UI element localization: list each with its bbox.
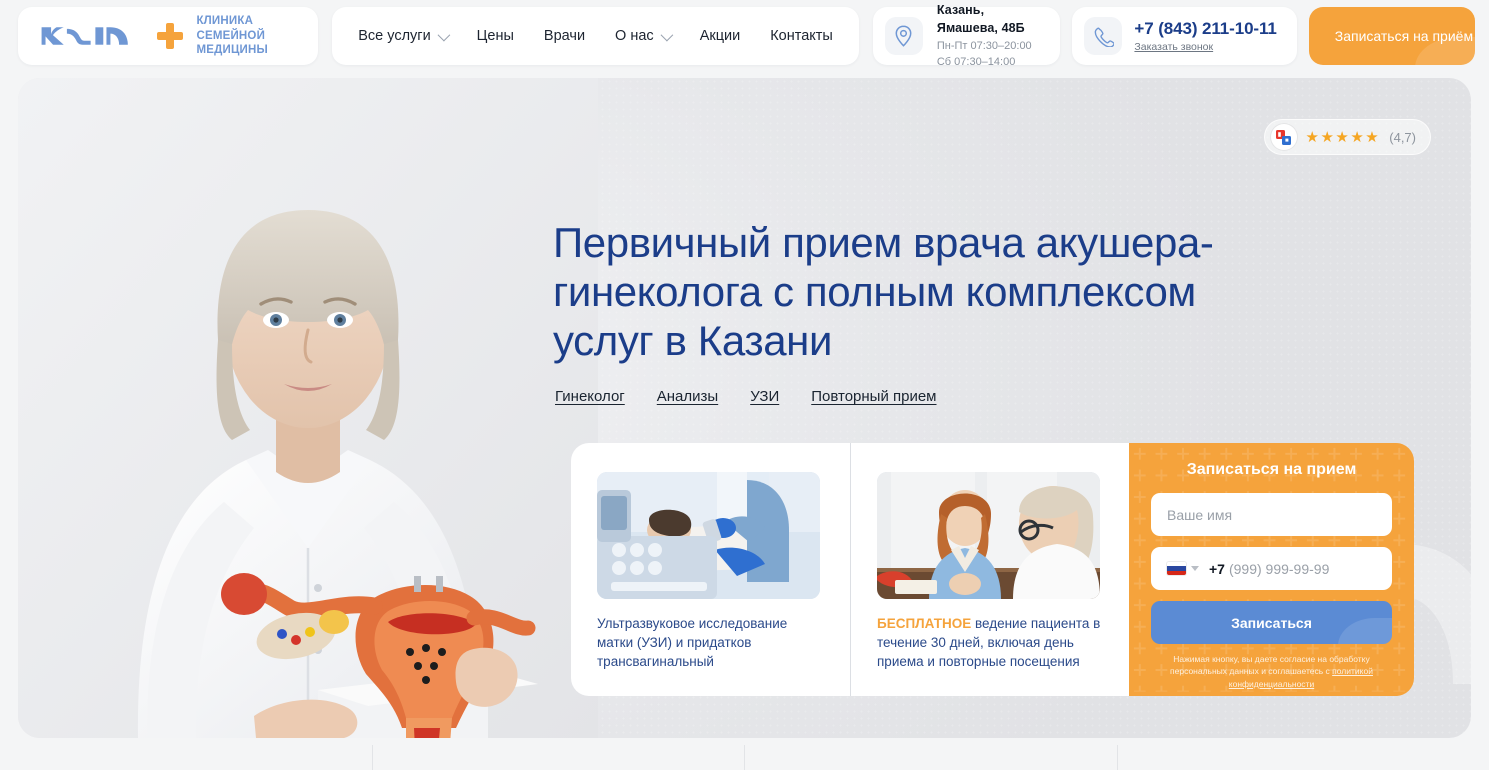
prodoctorov-icon (1271, 124, 1297, 150)
chevron-down-icon (437, 28, 450, 41)
below-column (0, 745, 372, 770)
nav-label: Врачи (544, 28, 585, 44)
below-column (372, 745, 745, 770)
service-text: Ультразвуковое исследование матки (УЗИ) … (597, 614, 824, 671)
nav-item-kontakty[interactable]: Контакты (770, 28, 833, 44)
nav-item-vse-uslugi[interactable]: Все услуги (358, 28, 446, 44)
phone-placeholder: (999) 999-99-99 (1229, 561, 1329, 577)
nav-label: Контакты (770, 28, 833, 44)
phone-icon (1084, 17, 1122, 55)
location-block[interactable]: Казань, Ямашева, 48Б Пн-Пт 07:30–20:00 С… (873, 7, 1061, 65)
russia-flag-icon (1167, 562, 1186, 575)
doctor-photo (18, 78, 598, 738)
nav-label: Все услуги (358, 28, 430, 44)
hours-weekday: Пн-Пт 07:30–20:00 (937, 39, 1043, 55)
chevron-down-icon[interactable] (1191, 566, 1199, 571)
anchor-link-uzi[interactable]: УЗИ (750, 388, 779, 405)
page-title: Первичный прием врача акушера-гинеколога… (553, 218, 1293, 365)
map-pin-icon (885, 17, 923, 55)
phone-field[interactable]: +7 (999) 999-99-99 (1151, 547, 1392, 590)
consultation-photo (877, 472, 1100, 599)
nav-item-o-nas[interactable]: О нас (615, 28, 670, 44)
header-appointment-button[interactable]: Записаться на приём (1309, 7, 1475, 65)
phone-text: +7 (843) 211-10-11 Заказать звонок (1134, 19, 1276, 53)
below-column (1117, 745, 1489, 770)
service-card-uzi[interactable]: Ультразвуковое исследование матки (УЗИ) … (571, 443, 850, 696)
anchor-link-povtornyy-priem[interactable]: Повторный прием (811, 388, 936, 405)
hero-cards-row: Ультразвуковое исследование матки (УЗИ) … (571, 443, 1414, 696)
service-card-free-support[interactable]: БЕСПЛАТНОЕ ведение пациента в течение 30… (850, 443, 1129, 696)
form-submit-button[interactable]: Записаться (1151, 601, 1392, 644)
anchor-link-analizy[interactable]: Анализы (657, 388, 718, 405)
form-title: Записаться на прием (1151, 461, 1392, 479)
hours-saturday: Сб 07:30–14:00 (937, 55, 1043, 71)
anchor-link-ginekolog[interactable]: Гинеколог (555, 388, 625, 405)
below-hero-columns (0, 745, 1489, 770)
anchor-links: Гинеколог Анализы УЗИ Повторный прием (555, 388, 937, 405)
rating-value: (4,7) (1389, 130, 1416, 145)
hero-section: ★★★★★ (4,7) Первичный прием врача акушер… (18, 78, 1471, 738)
brand-name: КЛИНИКА СЕМЕЙНОЙ МЕДИЦИНЫ (196, 14, 298, 57)
address-line: Казань, Ямашева, 48Б (937, 3, 1025, 35)
ultrasound-photo (597, 472, 820, 599)
name-placeholder: Ваше имя (1167, 507, 1232, 523)
nav-item-vrachi[interactable]: Врачи (544, 28, 585, 44)
main-nav: Все услуги Цены Врачи О нас Акции Контак… (332, 7, 859, 65)
callback-link[interactable]: Заказать звонок (1134, 41, 1276, 53)
ksm-logo-icon (40, 21, 144, 51)
phone-prefix: +7 (1209, 561, 1225, 577)
name-field[interactable]: Ваше имя (1151, 493, 1392, 536)
rating-badge[interactable]: ★★★★★ (4,7) (1264, 119, 1431, 155)
nav-label: О нас (615, 28, 654, 44)
appointment-form: Записаться на прием Ваше имя +7 (999) 99… (1129, 443, 1414, 696)
phone-number[interactable]: +7 (843) 211-10-11 (1134, 19, 1276, 39)
rating-stars: ★★★★★ (1306, 130, 1381, 145)
consent-text: Нажимая кнопку, вы даете согласие на обр… (1151, 653, 1392, 690)
chevron-down-icon (660, 28, 673, 41)
nav-item-aktsii[interactable]: Акции (700, 28, 741, 44)
below-column (744, 745, 1117, 770)
free-badge: БЕСПЛАТНОЕ (877, 616, 971, 631)
logo-block[interactable]: КЛИНИКА СЕМЕЙНОЙ МЕДИЦИНЫ (18, 7, 318, 65)
location-text: Казань, Ямашева, 48Б Пн-Пт 07:30–20:00 С… (937, 1, 1043, 71)
phone-block[interactable]: +7 (843) 211-10-11 Заказать звонок (1072, 7, 1296, 65)
services-card: Ультразвуковое исследование матки (УЗИ) … (571, 443, 1129, 696)
plus-cross-icon (157, 23, 183, 49)
nav-label: Цены (477, 28, 514, 44)
nav-label: Акции (700, 28, 741, 44)
service-text: БЕСПЛАТНОЕ ведение пациента в течение 30… (877, 614, 1103, 671)
site-header: КЛИНИКА СЕМЕЙНОЙ МЕДИЦИНЫ Все услуги Цен… (0, 0, 1489, 72)
page-root: КЛИНИКА СЕМЕЙНОЙ МЕДИЦИНЫ Все услуги Цен… (0, 0, 1489, 770)
nav-item-tseny[interactable]: Цены (477, 28, 514, 44)
